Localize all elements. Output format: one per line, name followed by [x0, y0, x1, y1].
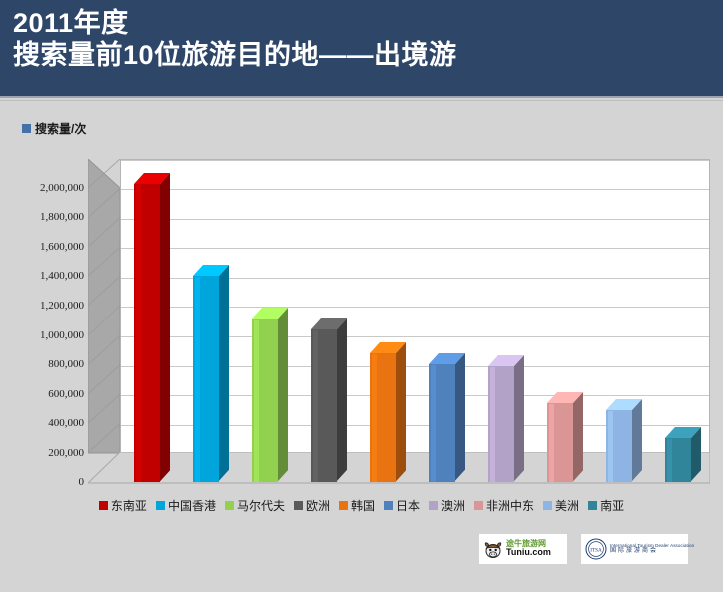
bar-美洲[interactable] — [606, 381, 642, 482]
bar-3d-faces-icon — [606, 379, 642, 482]
legend-swatch-icon — [474, 501, 483, 510]
chart-area: 搜索量/次 2,000,0001,800,0001,600,0001,400,0… — [0, 100, 723, 540]
legend-swatch-icon — [99, 501, 108, 510]
series-legend-label: 搜索量/次 — [35, 120, 86, 137]
legend-item-南亚[interactable]: 南亚 — [588, 497, 624, 514]
bar-3d-faces-icon — [665, 407, 701, 482]
bar-3d-faces-icon — [370, 322, 406, 482]
bar-3d-faces-icon — [429, 333, 465, 482]
bar-3d-faces-icon — [547, 372, 583, 482]
bar-马尔代夫[interactable] — [252, 290, 288, 482]
legend-item-马尔代夫[interactable]: 马尔代夫 — [225, 497, 285, 514]
legend-swatch-icon — [294, 501, 303, 510]
legend-item-日本[interactable]: 日本 — [384, 497, 420, 514]
bar-3d-faces-icon — [252, 288, 288, 482]
bar-3d-faces-icon — [488, 335, 524, 482]
category-legend: 东南亚中国香港马尔代夫欧洲韩国日本澳洲非洲中东美洲南亚 — [0, 497, 723, 514]
left-wall-shape-icon — [88, 159, 121, 484]
legend-label: 非洲中东 — [486, 497, 534, 514]
legend-label: 马尔代夫 — [237, 497, 285, 514]
legend-label: 欧洲 — [306, 497, 330, 514]
legend-swatch-icon — [429, 501, 438, 510]
title-banner: 2011年度 搜索量前10位旅游目的地——出境游 — [0, 0, 723, 98]
cow-mascot-icon — [482, 538, 504, 560]
y-axis-tick-label: 800,000 — [48, 358, 84, 370]
legend-label: 澳洲 — [441, 497, 465, 514]
plot-left-wall — [88, 159, 121, 484]
footer: 途牛旅游网 Tuniu.com ITSA International Touri… — [0, 530, 723, 592]
bar-澳洲[interactable] — [488, 337, 524, 482]
bar-非洲中东[interactable] — [547, 374, 583, 482]
y-axis-tick-label: 1,600,000 — [40, 241, 84, 253]
legend-label: 韩国 — [351, 497, 375, 514]
bar-3d-faces-icon — [193, 245, 229, 482]
bar-南亚[interactable] — [665, 409, 701, 482]
y-axis-tick-label: 2,000,000 — [40, 182, 84, 194]
legend-item-非洲中东[interactable]: 非洲中东 — [474, 497, 534, 514]
itsa-logo: ITSA International Tourism Dealer Associ… — [581, 534, 688, 564]
y-axis-tick-label: 200,000 — [48, 447, 84, 459]
series-legend-swatch-icon — [22, 124, 31, 133]
bar-3d-faces-icon — [134, 153, 170, 482]
legend-label: 日本 — [396, 497, 420, 514]
legend-item-韩国[interactable]: 韩国 — [339, 497, 375, 514]
y-axis-tick-label: 600,000 — [48, 388, 84, 400]
bar-3d-faces-icon — [311, 298, 347, 482]
legend-swatch-icon — [588, 501, 597, 510]
bar-日本[interactable] — [429, 335, 465, 482]
bar-东南亚[interactable] — [134, 155, 170, 482]
bars-layer — [120, 159, 710, 453]
legend-item-澳洲[interactable]: 澳洲 — [429, 497, 465, 514]
legend-item-欧洲[interactable]: 欧洲 — [294, 497, 330, 514]
bar-韩国[interactable] — [370, 324, 406, 482]
y-axis-tick-label: 1,800,000 — [40, 211, 84, 223]
y-axis-tick-label: 1,400,000 — [40, 270, 84, 282]
itsa-seal-text: ITSA — [590, 547, 602, 553]
page-title-line-2: 搜索量前10位旅游目的地——出境游 — [0, 40, 723, 72]
legend-label: 中国香港 — [168, 497, 216, 514]
legend-swatch-icon — [156, 501, 165, 510]
itsa-chinese-name: 国际旅游商会 — [610, 548, 694, 555]
legend-label: 东南亚 — [111, 497, 147, 514]
legend-swatch-icon — [225, 501, 234, 510]
legend-item-东南亚[interactable]: 东南亚 — [99, 497, 147, 514]
bar-中国香港[interactable] — [193, 247, 229, 482]
tuniu-logo: 途牛旅游网 Tuniu.com — [479, 534, 567, 564]
legend-label: 南亚 — [600, 497, 624, 514]
y-axis-tick-label: 1,200,000 — [40, 300, 84, 312]
y-axis-tick-label: 400,000 — [48, 417, 84, 429]
legend-label: 美洲 — [555, 497, 579, 514]
page-title-line-1: 2011年度 — [0, 0, 723, 40]
tuniu-english-name: Tuniu.com — [506, 548, 551, 557]
legend-item-美洲[interactable]: 美洲 — [543, 497, 579, 514]
series-legend: 搜索量/次 — [22, 120, 86, 137]
legend-swatch-icon — [339, 501, 348, 510]
legend-swatch-icon — [384, 501, 393, 510]
y-axis-tick-label: 0 — [79, 476, 85, 488]
y-axis: 2,000,0001,800,0001,600,0001,400,0001,20… — [10, 159, 88, 484]
bar-欧洲[interactable] — [311, 300, 347, 482]
y-axis-tick-label: 1,000,000 — [40, 329, 84, 341]
plot-3d-body — [88, 159, 710, 484]
plot-region: 2,000,0001,800,0001,600,0001,400,0001,20… — [10, 159, 710, 484]
legend-swatch-icon — [543, 501, 552, 510]
itsa-seal-icon: ITSA — [585, 538, 607, 560]
legend-item-中国香港[interactable]: 中国香港 — [156, 497, 216, 514]
